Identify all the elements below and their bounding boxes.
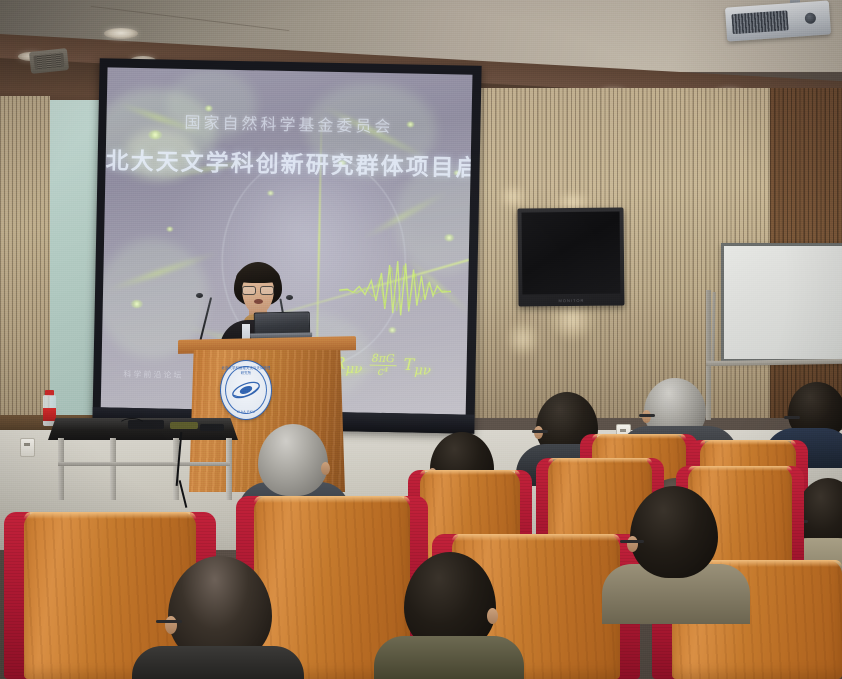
emblem-bottom-text: KIAA PKU [221,410,271,414]
table-leg [226,438,232,500]
ceiling-projector [725,0,831,41]
ear [321,462,330,475]
wall-mounted-monitor[interactable]: MONITOR [517,207,624,306]
equation-rhs: T [403,355,414,374]
ear [642,410,651,423]
ear [165,616,177,634]
projector-lens-icon [805,12,817,24]
equation-fraction: 8πG c⁴ [369,353,396,378]
seat-top-edge [420,470,520,475]
audience-shoulders [374,636,524,679]
glasses-icon [532,430,548,433]
glasses-icon [620,540,644,543]
presenter-glasses-icon [260,286,274,295]
seat-top-edge [254,496,410,503]
emblem-orbit-icon [230,377,262,403]
podium-emblem: 北京大学科维理天文与天体物理研究所 KIAA PKU [220,360,272,420]
av-device[interactable] [170,422,198,429]
seat-top-edge [700,440,796,445]
table-leg [58,438,64,500]
glasses-icon [784,416,800,419]
seat-top-edge [24,512,196,519]
table-leg [110,438,116,500]
glasses-icon [639,414,655,417]
ear [627,536,638,552]
presenter-laptop[interactable] [250,311,312,340]
ear [487,608,498,624]
head-shape [630,486,718,578]
presenter-glasses-icon [242,286,256,295]
whiteboard-stand-leg [706,290,711,420]
glasses-icon [156,620,182,623]
whiteboard[interactable] [721,243,842,362]
wall-ribbed-left [0,96,50,426]
cable [118,418,146,434]
wall-speaker [29,48,69,74]
seat-top-edge [452,534,620,541]
head-shape [258,424,328,496]
seat-top-edge [592,434,686,439]
audience-head [258,424,328,496]
presenter-mouth [254,299,263,304]
seat-top-edge [688,466,792,471]
equation-rhs-sub: μν [414,363,431,378]
slide-waveform-graphic [338,250,451,326]
microphone-head-icon [196,293,203,298]
seat-top-edge [548,458,652,463]
emblem-top-text: 北京大学科维理天文与天体物理研究所 [221,365,271,375]
table-rail [58,462,230,466]
monitor-brand-label: MONITOR [559,298,585,303]
power-outlet[interactable] [20,438,35,457]
slide-watermark: 科学前沿论坛 [123,369,183,381]
ear [534,426,543,439]
audience-head [630,486,718,578]
audience-shoulders [132,646,304,679]
equation-denominator: c⁴ [378,364,389,377]
av-device[interactable] [200,424,224,431]
microphone-head-icon [286,295,293,300]
slide-title-line: 北大天文学科创新研究群体项目启动会议 [105,141,471,182]
monitor-screen [522,211,621,294]
conference-hall-photo: MONITOR [0,0,842,679]
presenter-fringe [236,266,280,283]
downlight-icon [104,28,138,39]
av-equipment-table [48,418,238,506]
projector-vent-icon [731,10,788,34]
